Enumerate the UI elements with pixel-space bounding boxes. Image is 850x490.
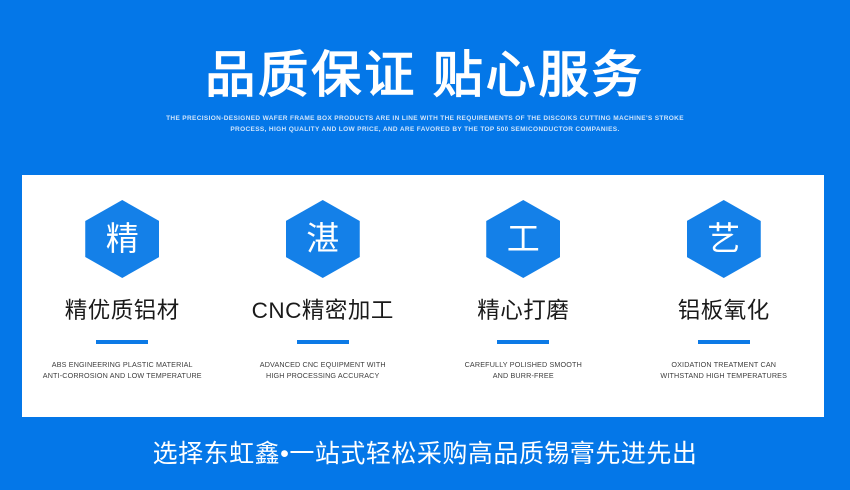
feature-title: 精心打磨 [477, 297, 569, 325]
feature-description: CAREFULLY POLISHED SMOOTH AND BURR-FREE [465, 359, 582, 381]
features-card: 精 精优质铝材 ABS ENGINEERING PLASTIC MATERIAL… [22, 175, 824, 417]
feature-item-quality-aluminum[interactable]: 精 精优质铝材 ABS ENGINEERING PLASTIC MATERIAL… [22, 175, 223, 381]
hexagon-badge-icon: 工 [486, 200, 560, 278]
hexagon-badge-label: 工 [507, 222, 540, 256]
hexagon-badge-icon: 湛 [286, 200, 360, 278]
hexagon-badge-icon: 艺 [687, 200, 761, 278]
feature-item-cnc-machining[interactable]: 湛 CNC精密加工 ADVANCED CNC EQUIPMENT WITH HI… [223, 175, 424, 381]
promo-banner-page: 品质保证 贴心服务 THE PRECISION-DESIGNED WAFER F… [0, 0, 850, 490]
feature-description: ABS ENGINEERING PLASTIC MATERIAL ANTI-CO… [43, 359, 202, 381]
feature-divider [297, 340, 349, 344]
hexagon-badge-label: 湛 [306, 222, 339, 256]
feature-divider [96, 340, 148, 344]
feature-item-careful-polishing[interactable]: 工 精心打磨 CAREFULLY POLISHED SMOOTH AND BUR… [423, 175, 624, 381]
page-title: 品质保证 贴心服务 [0, 46, 850, 104]
header-section: 品质保证 贴心服务 THE PRECISION-DESIGNED WAFER F… [0, 0, 850, 175]
hexagon-badge-icon: 精 [85, 200, 159, 278]
features-list: 精 精优质铝材 ABS ENGINEERING PLASTIC MATERIAL… [22, 175, 824, 417]
footer-banner: 选择东虹鑫•一站式轻松采购高品质锡膏先进先出 [0, 417, 850, 490]
hexagon-badge-label: 艺 [707, 222, 740, 256]
feature-item-aluminum-oxidation[interactable]: 艺 铝板氧化 OXIDATION TREATMENT CAN WITHSTAND… [624, 175, 825, 381]
feature-title: CNC精密加工 [252, 297, 394, 325]
feature-title: 精优质铝材 [65, 297, 180, 325]
feature-divider [698, 340, 750, 344]
feature-description: ADVANCED CNC EQUIPMENT WITH HIGH PROCESS… [260, 359, 386, 381]
feature-description: OXIDATION TREATMENT CAN WITHSTAND HIGH T… [660, 359, 787, 381]
header-subtitle: THE PRECISION-DESIGNED WAFER FRAME BOX P… [155, 113, 695, 135]
feature-title: 铝板氧化 [678, 297, 770, 325]
feature-divider [497, 340, 549, 344]
hexagon-badge-label: 精 [106, 222, 139, 256]
footer-slogan: 选择东虹鑫•一站式轻松采购高品质锡膏先进先出 [153, 438, 698, 470]
